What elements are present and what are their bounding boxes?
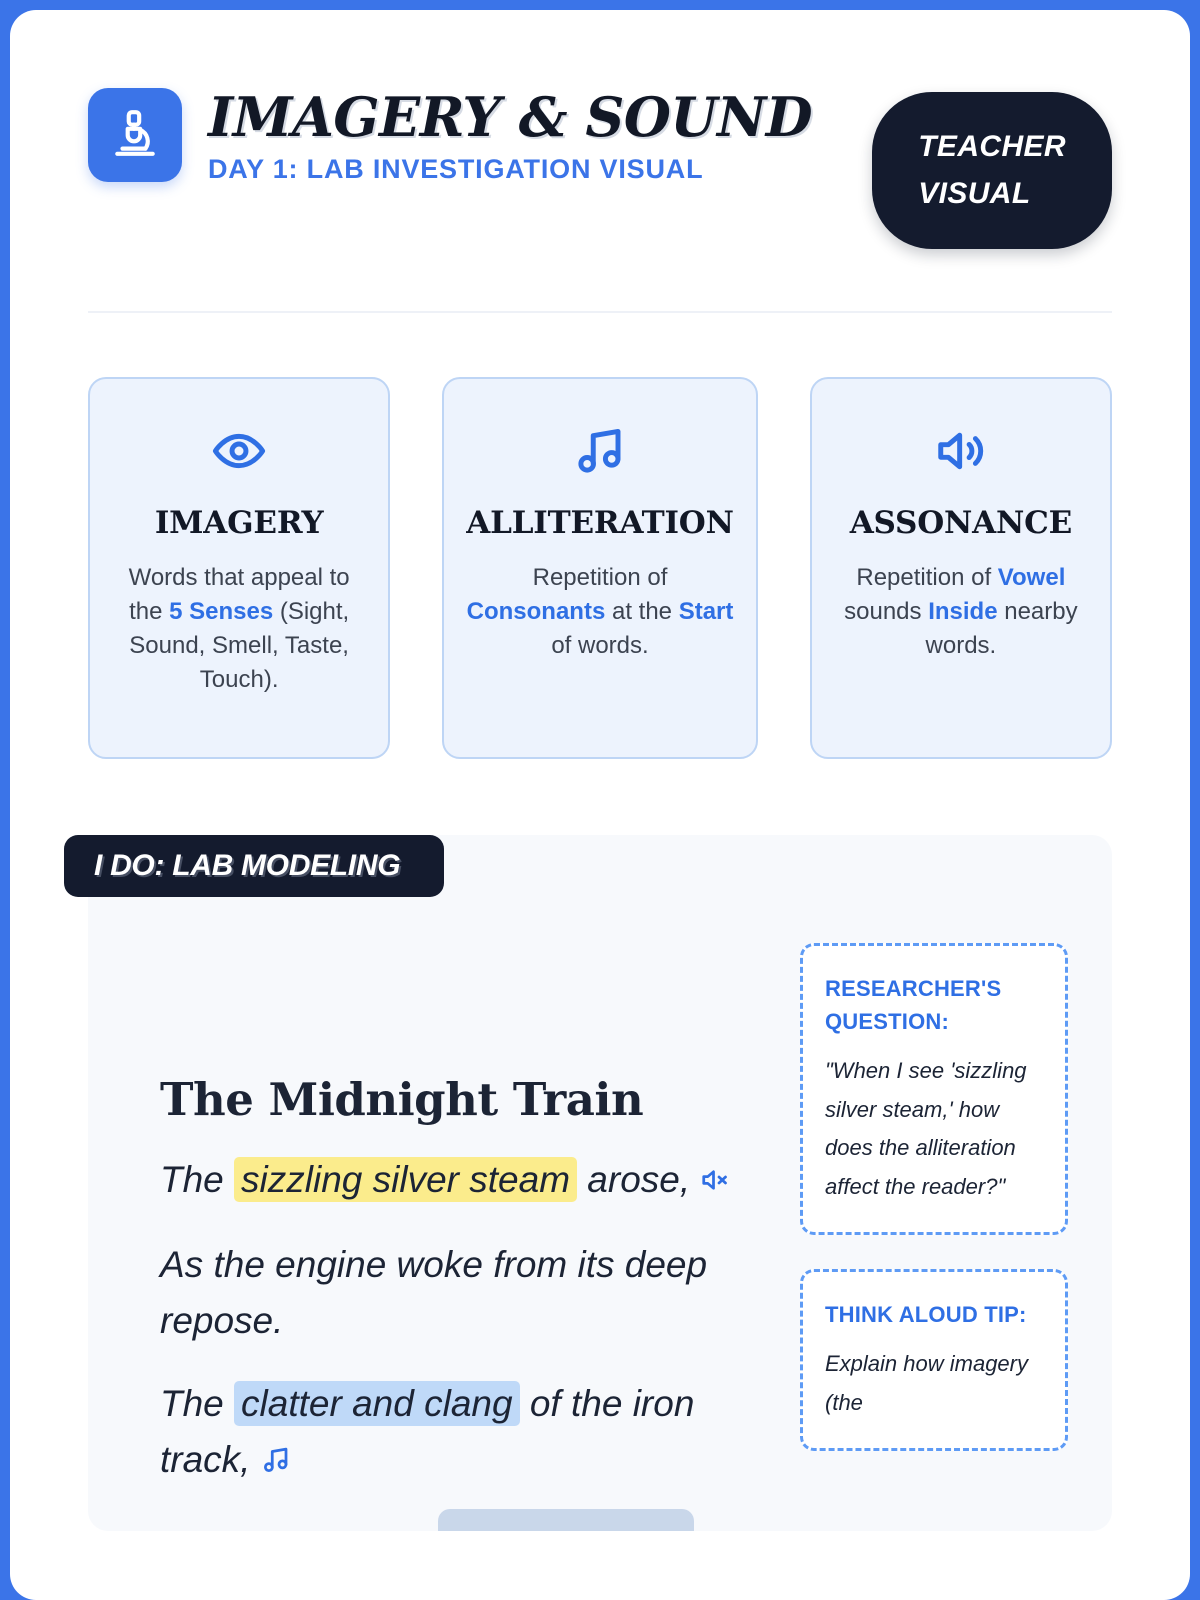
speaker-mute-icon <box>700 1155 730 1211</box>
researchers-question-box: RESEARCHER'S QUESTION: "When I see 'sizz… <box>800 943 1068 1235</box>
poem-column: The Midnight Train The sizzling silver s… <box>132 931 760 1491</box>
highlight-alliteration: sizzling silver steam <box>234 1157 577 1202</box>
poem-title: The Midnight Train <box>160 1073 760 1126</box>
logo-badge <box>88 88 182 182</box>
music-note-icon <box>261 1435 291 1491</box>
header-divider <box>88 311 1112 313</box>
lab-modeling-panel: The Midnight Train The sizzling silver s… <box>88 835 1112 1531</box>
concept-name: ASSONANCE <box>834 505 1088 541</box>
worksheet-sheet: IMAGERY & SOUND DAY 1: LAB INVESTIGATION… <box>10 10 1190 1600</box>
eye-icon <box>112 423 366 479</box>
poem-body: The sizzling silver steam arose, As the … <box>160 1152 760 1491</box>
poem-line: The clatter and clang of the iron track, <box>160 1376 760 1491</box>
highlight-assonance: clatter and clang <box>234 1381 520 1426</box>
teacher-badge: TEACHER VISUAL <box>872 92 1112 249</box>
teacher-badge-line1: TEACHER <box>918 124 1066 171</box>
poem-text: arose, <box>577 1159 700 1200</box>
poem-line: The sizzling silver steam arose, <box>160 1152 760 1211</box>
concept-name: ALLITERATION <box>466 505 733 541</box>
poem-line: As the engine woke from its deep repose. <box>160 1237 760 1349</box>
page-frame: IMAGERY & SOUND DAY 1: LAB INVESTIGATION… <box>10 10 1190 1600</box>
poem-text: The <box>160 1383 234 1424</box>
note-text: "When I see 'sizzling silver steam,' how… <box>825 1052 1043 1206</box>
poem-text: The <box>160 1159 234 1200</box>
bottom-strip <box>438 1509 694 1531</box>
poem-text: As the engine woke from its deep repose. <box>160 1244 707 1341</box>
think-aloud-tip-box: THINK ALOUD TIP: Explain how imagery (th… <box>800 1269 1068 1451</box>
note-label: RESEARCHER'S QUESTION: <box>825 972 1043 1038</box>
concept-description: Repetition of Vowel sounds Inside nearby… <box>834 561 1088 663</box>
page-subtitle: DAY 1: LAB INVESTIGATION VISUAL <box>208 154 728 185</box>
note-text: Explain how imagery (the <box>825 1345 1043 1422</box>
concept-description: Words that appeal to the 5 Senses (Sight… <box>112 561 366 697</box>
music-note-icon <box>466 423 733 479</box>
microscope-icon <box>110 108 160 163</box>
concept-name: IMAGERY <box>112 505 366 541</box>
concept-card-imagery: IMAGERY Words that appeal to the 5 Sense… <box>88 377 390 759</box>
concept-card-alliteration: ALLITERATION Repetition of Consonants at… <box>442 377 757 759</box>
notes-column: RESEARCHER'S QUESTION: "When I see 'sizz… <box>800 931 1068 1491</box>
concept-cards: IMAGERY Words that appeal to the 5 Sense… <box>88 377 1112 759</box>
concept-card-assonance: ASSONANCE Repetition of Vowel sounds Ins… <box>810 377 1112 759</box>
section-badge: I DO: LAB MODELING <box>64 835 444 897</box>
speaker-icon <box>834 423 1088 479</box>
title-block: IMAGERY & SOUND DAY 1: LAB INVESTIGATION… <box>208 88 846 185</box>
lab-modeling-section: I DO: LAB MODELING The Midnight Train Th… <box>88 835 1112 1531</box>
note-label: THINK ALOUD TIP: <box>825 1298 1043 1331</box>
teacher-badge-line2: VISUAL <box>918 171 1066 218</box>
page-title: IMAGERY & SOUND <box>208 90 846 146</box>
concept-description: Repetition of Consonants at the Start of… <box>466 561 733 663</box>
header: IMAGERY & SOUND DAY 1: LAB INVESTIGATION… <box>88 88 1112 249</box>
